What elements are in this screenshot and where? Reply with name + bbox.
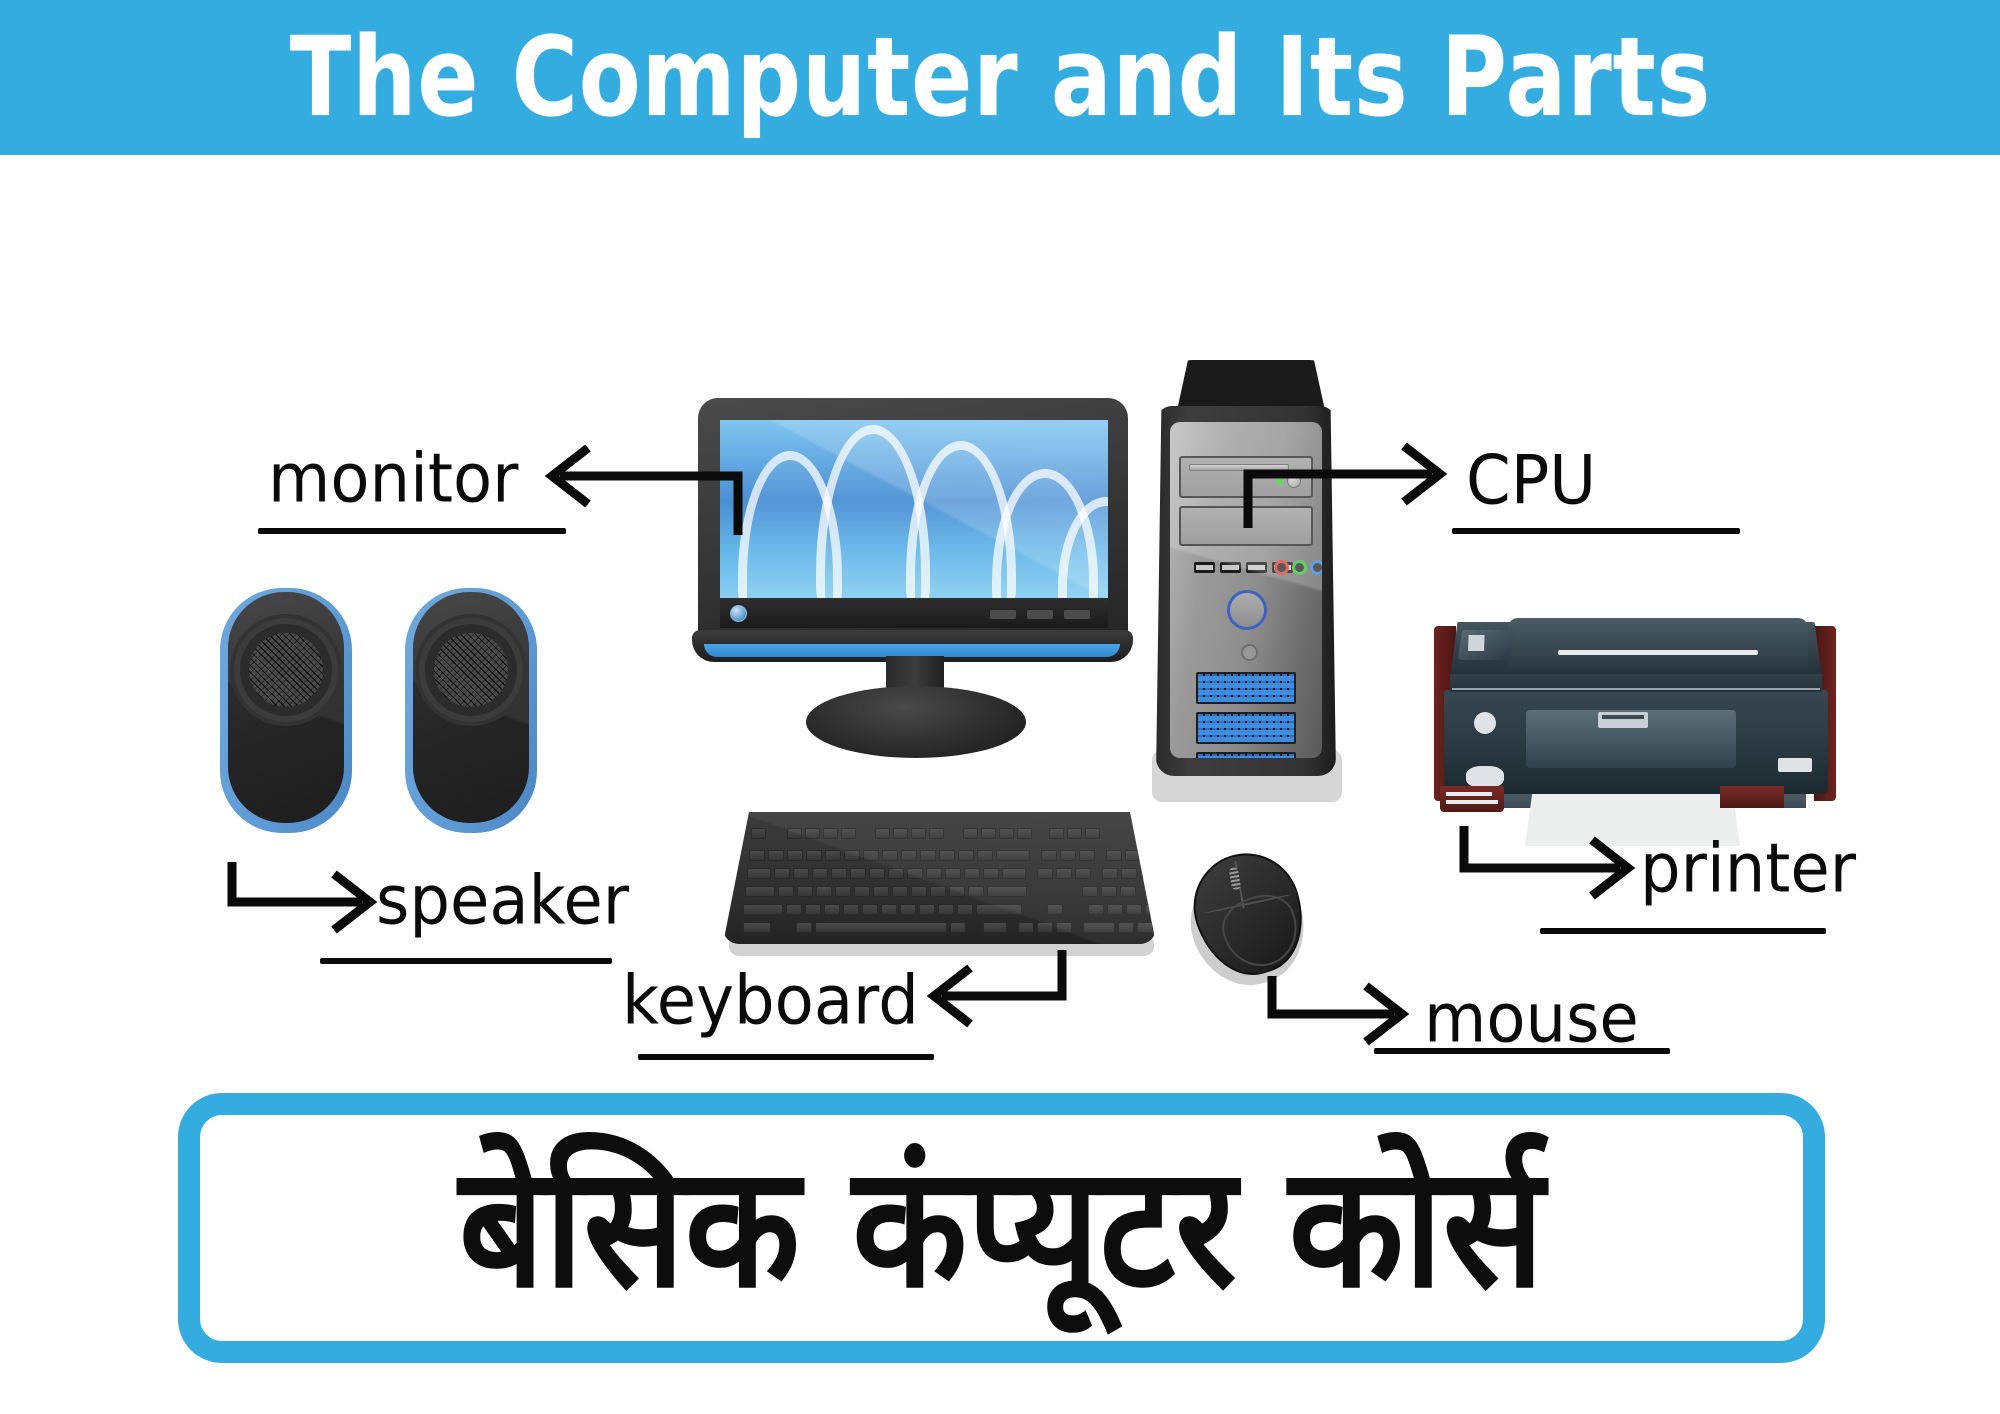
label-rule-keyboard [638, 1054, 934, 1060]
footer-banner: बेसिक कंप्यूटर कोर्स [178, 1093, 1825, 1363]
label-rule-speaker [320, 958, 612, 964]
label-speaker: speaker [376, 862, 629, 940]
course-title: बेसिक कंप्यूटर कोर्स [459, 1144, 1544, 1312]
label-rule-monitor [258, 528, 566, 534]
label-mouse: mouse [1424, 980, 1639, 1058]
label-rule-printer [1540, 928, 1826, 934]
label-monitor: monitor [268, 440, 518, 518]
label-keyboard: keyboard [622, 962, 919, 1040]
label-rule-mouse [1374, 1048, 1670, 1054]
poster-canvas: The Computer and Its Parts [0, 0, 2000, 1414]
label-printer: printer [1640, 830, 1856, 908]
label-cpu: CPU [1466, 442, 1596, 520]
label-rule-cpu [1452, 528, 1740, 534]
